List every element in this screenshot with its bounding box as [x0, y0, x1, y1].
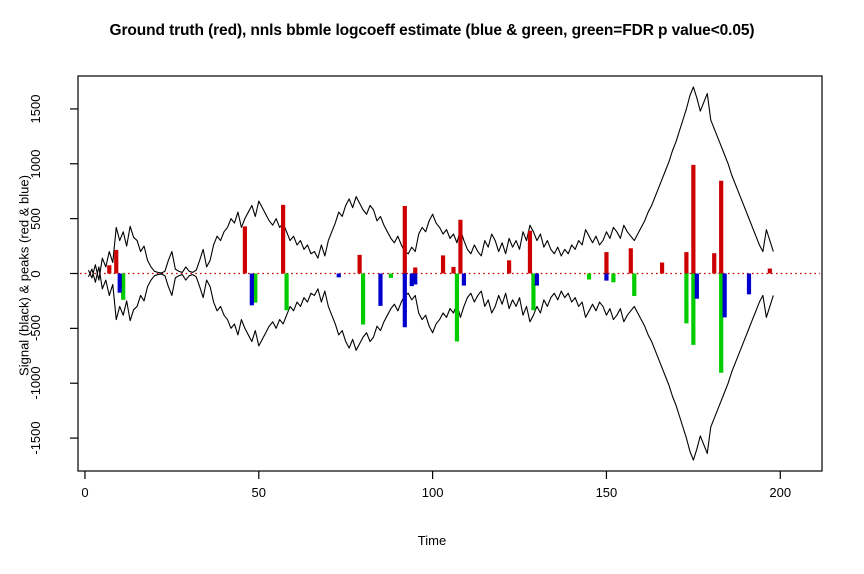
x-axis-tick-label: 200 [750, 485, 810, 500]
x-axis-label: Time [0, 533, 864, 548]
x-axis-tick-label: 0 [55, 485, 115, 500]
x-axis-tick-label: 150 [576, 485, 636, 500]
x-axis-tick-label: 50 [229, 485, 289, 500]
axes-layer [70, 76, 822, 479]
peak-spikes [109, 165, 770, 373]
signal-trace [88, 87, 773, 280]
signal-trace [88, 267, 773, 460]
x-axis-tick-label: 100 [403, 485, 463, 500]
y-axis-label: Signal (black) & peaks (red & blue) [17, 76, 32, 476]
plot-root: Ground truth (red), nnls bbmle logcoeff … [0, 0, 864, 574]
